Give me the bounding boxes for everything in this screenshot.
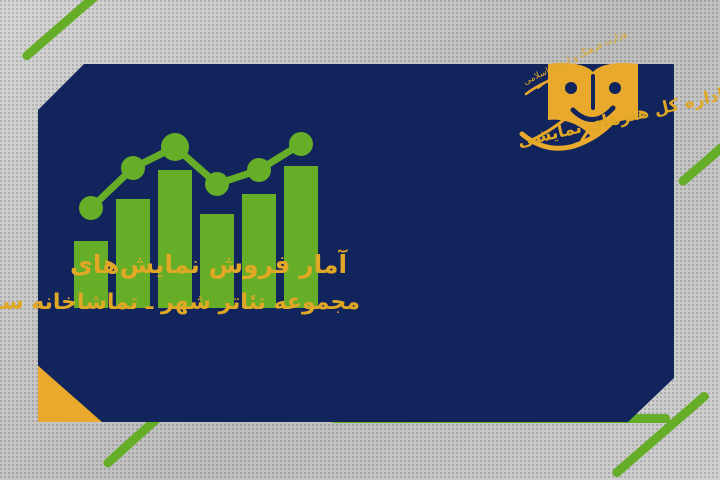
book-face-right-eye — [609, 82, 621, 94]
green-diagonal-right-mid — [677, 118, 720, 188]
page-title-line-1: آمار فروش نمایش‌های — [70, 248, 360, 282]
trend-marker-5 — [247, 158, 271, 182]
organization-logo: وزارت فرهنگ و ارشاد اسلامی اداره کل هنره… — [518, 48, 668, 160]
book-face-left-eye — [565, 82, 577, 94]
trend-marker-1 — [79, 196, 103, 220]
chart-trend-line — [79, 132, 313, 220]
trend-marker-4 — [205, 172, 229, 196]
trend-marker-6 — [289, 132, 313, 156]
page-title-line-2: مجموعه تئاتر شهر ـ تماشاخانه سنگلج و تال… — [70, 288, 360, 318]
trend-marker-3 — [161, 133, 189, 161]
title-block: آمار فروش نمایش‌های مجموعه تئاتر شهر ـ ت… — [70, 248, 360, 317]
trend-marker-2 — [121, 156, 145, 180]
green-diagonal-top-left — [21, 0, 110, 62]
poster-canvas: آمار فروش نمایش‌های مجموعه تئاتر شهر ـ ت… — [0, 0, 720, 480]
